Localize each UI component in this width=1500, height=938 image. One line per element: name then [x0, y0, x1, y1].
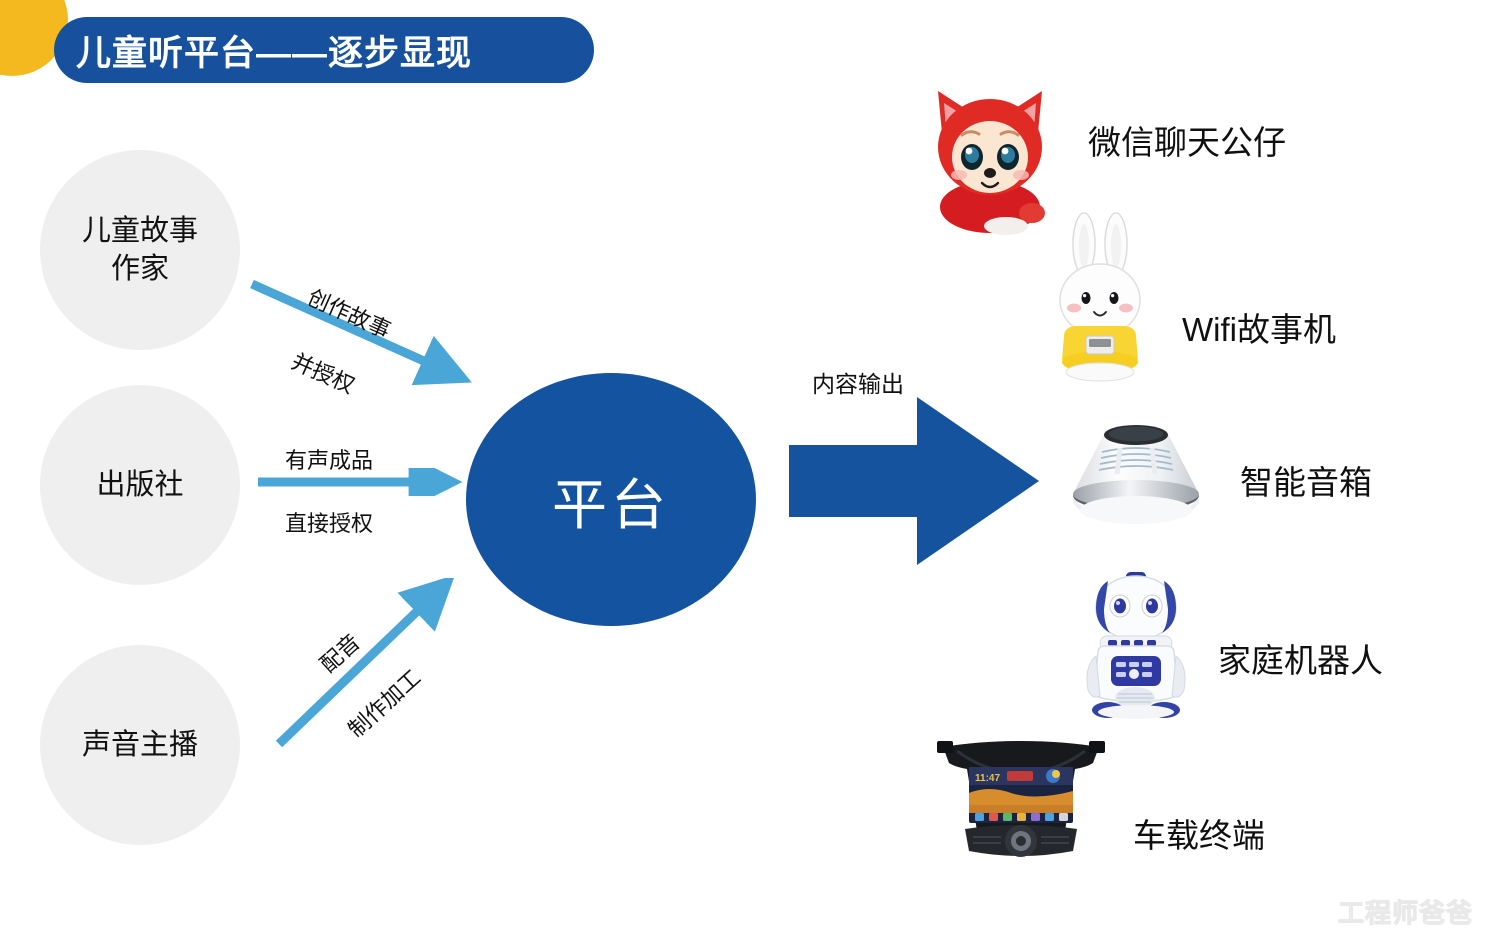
- source-label-group: 出版社: [96, 466, 183, 504]
- content-output-arrow-icon: [789, 397, 1039, 565]
- white-rabbit-machine-icon: [1044, 212, 1156, 389]
- product-row-car-terminal[interactable]: 11:47: [935, 733, 1265, 878]
- car-head-unit-icon: 11:47: [935, 733, 1107, 878]
- watermark: 工程师爸爸: [1338, 893, 1473, 930]
- source-label-line1: 声音主播: [82, 726, 198, 764]
- source-label-line1: 儿童故事: [82, 212, 198, 250]
- product-label: Wifi故事机: [1182, 303, 1336, 351]
- page-title: 儿童听平台——逐步显现: [76, 25, 472, 76]
- red-fox-plush-icon: [928, 85, 1052, 242]
- output-arrow-label: 内容输出: [812, 365, 904, 399]
- flow-label-publisher-top: 有声成品: [285, 443, 373, 475]
- source-circle-voice-anchor[interactable]: 声音主播: [40, 645, 240, 845]
- product-row-smart-speaker[interactable]: 智能音箱: [1060, 418, 1372, 533]
- svg-text:11:47: 11:47: [975, 773, 1000, 784]
- source-label-line1: 出版社: [96, 466, 183, 504]
- blue-white-robot-icon: [1078, 570, 1194, 725]
- flow-label-publisher-bottom: 直接授权: [285, 506, 373, 538]
- dome-speaker-icon: [1060, 418, 1212, 533]
- product-label: 微信聊天公仔: [1088, 116, 1286, 164]
- source-label-group: 儿童故事 作家: [82, 212, 198, 289]
- platform-circle[interactable]: 平台: [466, 373, 756, 626]
- product-row-home-robot[interactable]: 家庭机器人: [1078, 570, 1383, 725]
- slide-canvas: 儿童听平台——逐步显现 儿童故事 作家 出版社 声音主播 创作故事 并授权: [0, 0, 1500, 938]
- page-title-banner: 儿童听平台——逐步显现: [54, 17, 594, 83]
- platform-label: 平台: [552, 460, 670, 540]
- source-circle-publisher[interactable]: 出版社: [40, 385, 240, 585]
- product-label: 智能音箱: [1240, 456, 1372, 504]
- product-label: 家庭机器人: [1218, 634, 1383, 682]
- source-label-line2: 作家: [82, 250, 198, 288]
- product-label: 车载终端: [1133, 809, 1265, 857]
- product-row-wifi-story-machine[interactable]: Wifi故事机: [1044, 212, 1336, 389]
- source-label-group: 声音主播: [82, 726, 198, 764]
- source-circle-children-story-writer[interactable]: 儿童故事 作家: [40, 150, 240, 350]
